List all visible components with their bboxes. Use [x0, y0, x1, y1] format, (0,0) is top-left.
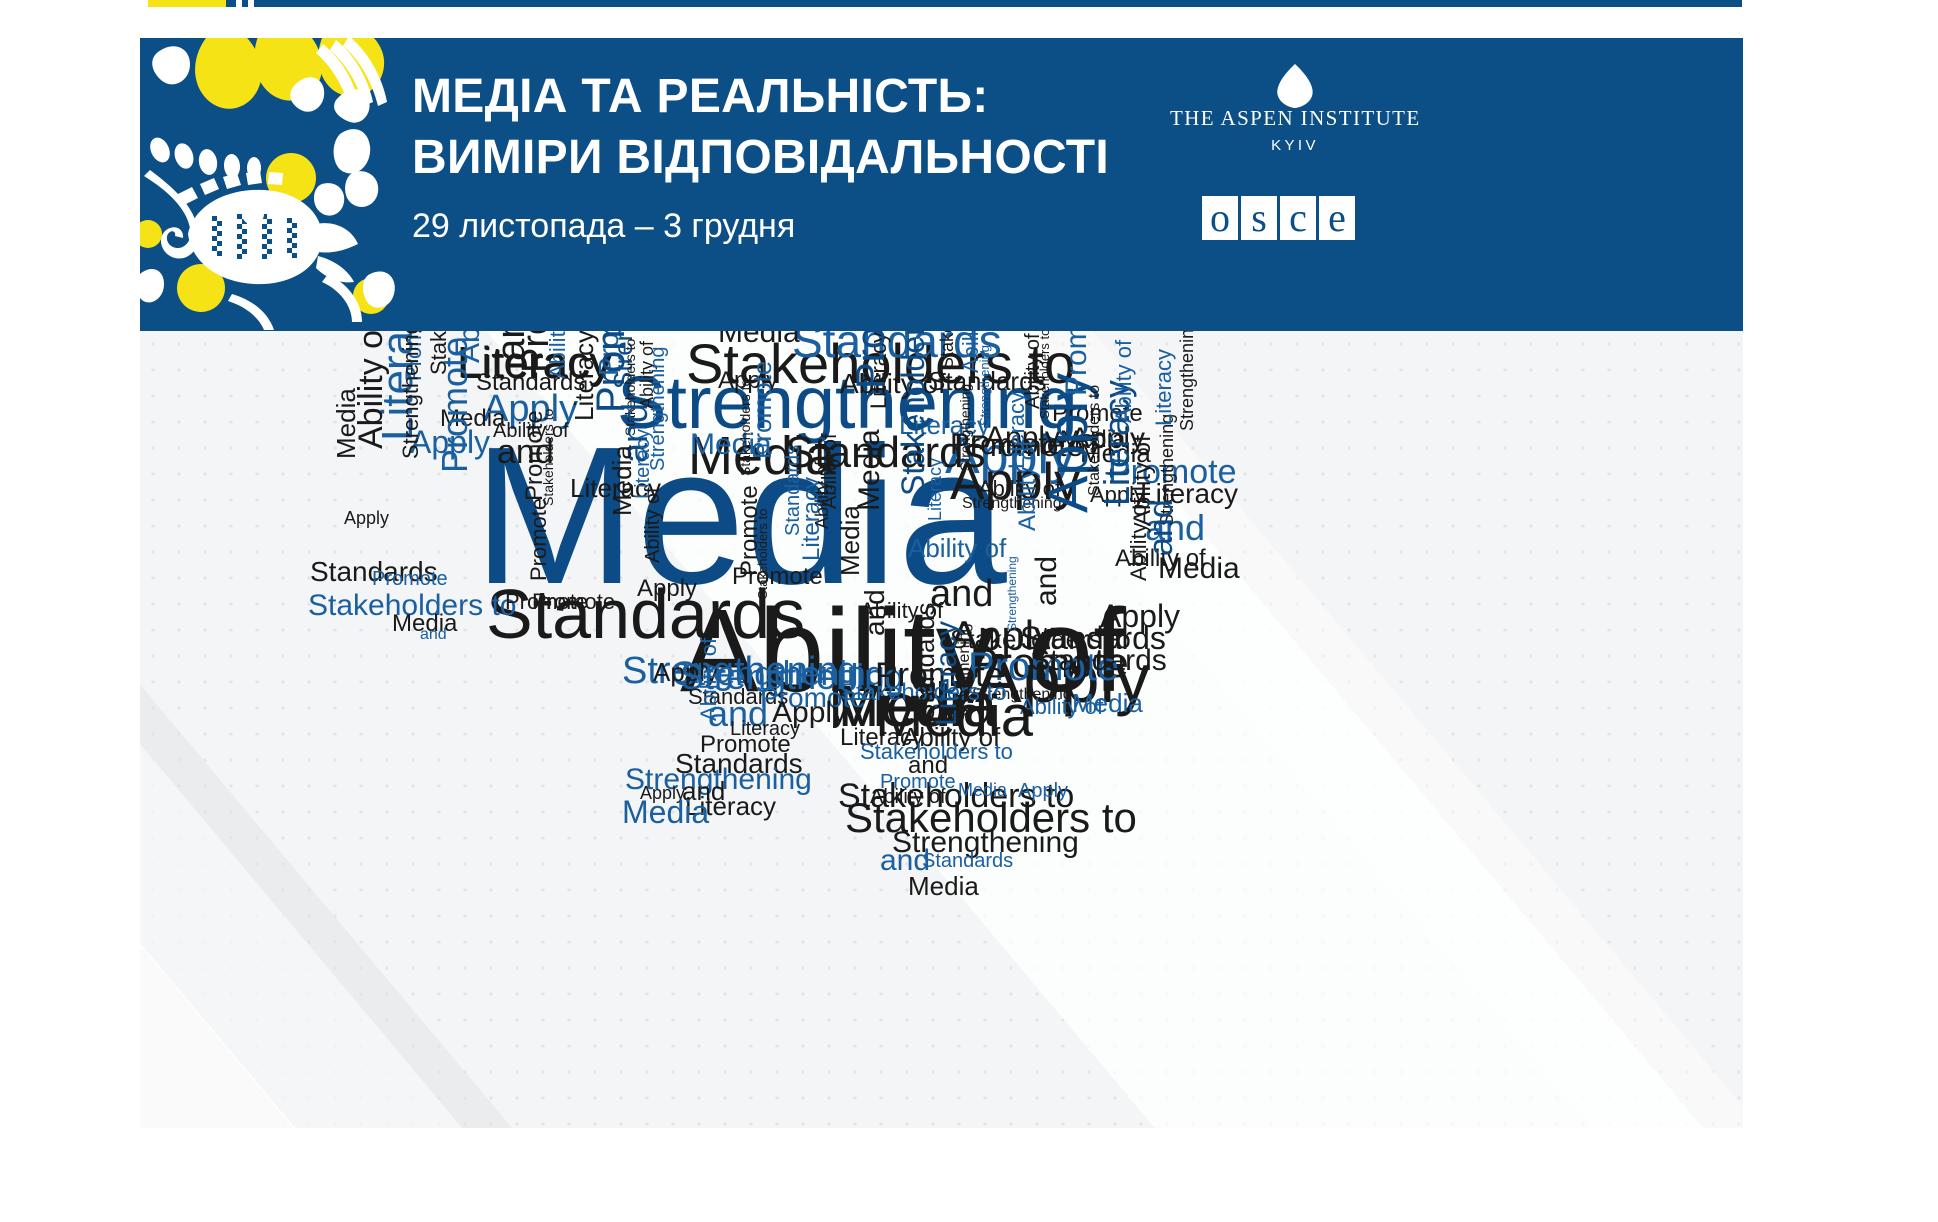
word-cloud-word: Strengthening	[402, 331, 420, 459]
word-cloud-word: Apply	[344, 511, 389, 526]
word-cloud: MediaAbility ofStrengtheningStandardsSta…	[140, 331, 1743, 1128]
ukrainian-folk-ornament-icon	[140, 38, 402, 331]
sliver-blue-bar	[226, 0, 1742, 7]
word-cloud-word: Media	[622, 799, 709, 825]
word-cloud-word: Media	[612, 445, 633, 516]
sliver-gap-2	[248, 0, 254, 7]
word-cloud-word: Promote	[855, 331, 888, 389]
word-cloud-word: Standards	[922, 853, 1013, 869]
word-cloud-word: Stakeholders to	[543, 409, 554, 506]
word-cloud-word: Ability of	[1130, 498, 1148, 581]
word-cloud-word: Ability of	[1115, 340, 1133, 423]
word-cloud-word: Ability of	[908, 538, 1006, 559]
osce-letter-c: c	[1280, 196, 1316, 240]
word-cloud-word: Stakeholders to	[940, 331, 955, 369]
word-cloud-word: Media	[336, 388, 357, 459]
aspen-institute-logo: THE ASPEN INSTITUTE KYIV	[1170, 62, 1420, 167]
osce-letter-e: e	[1319, 196, 1355, 240]
osce-letter-o: o	[1202, 196, 1238, 240]
word-cloud-word: and	[1035, 556, 1060, 606]
word-cloud-word: Promote	[505, 593, 588, 611]
sliver-yellow-bar	[148, 0, 226, 7]
word-cloud-word: Strengthening	[1180, 331, 1195, 431]
word-cloud-word: Ability of	[645, 487, 661, 563]
word-cloud-word: Stakeholders to	[900, 331, 926, 496]
word-cloud-word: Ability of	[815, 461, 830, 529]
aspen-leaf-icon	[1170, 62, 1420, 108]
page-title-line1: МЕДІА ТА РЕАЛЬНІСТЬ:	[412, 66, 1222, 127]
word-cloud-word: Media	[858, 429, 883, 511]
page-title: МЕДІА ТА РЕАЛЬНІСТЬ: ВИМІРИ ВІДПОВІДАЛЬН…	[412, 66, 1222, 189]
word-cloud-word: Stakeholders to	[1040, 331, 1051, 419]
word-cloud-word: Strengthening	[960, 384, 971, 471]
word-cloud-word: Media	[718, 331, 800, 346]
word-cloud-word: Strengthening	[958, 623, 971, 723]
word-cloud-word: Literacy	[928, 458, 943, 521]
slide-canvas: MediaAbility ofStrengtheningStandardsSta…	[140, 331, 1743, 1128]
osce-letter-s: s	[1241, 196, 1277, 240]
word-cloud-word: Standards	[1030, 649, 1167, 674]
word-cloud-word: Media	[1072, 693, 1143, 714]
word-cloud-word: Strengthening	[1008, 556, 1018, 631]
word-cloud-word: Promote	[595, 331, 628, 413]
word-cloud-word: Promote	[752, 361, 773, 459]
previous-slide-sliver	[0, 0, 1938, 7]
osce-logo: o s c e	[1202, 196, 1355, 240]
word-cloud-word: Promote	[372, 571, 448, 587]
word-cloud-word: Literacy	[1155, 349, 1173, 426]
event-dates: 29 листопада – 3 грудня	[412, 206, 1112, 247]
word-cloud-word: Promote	[1065, 331, 1090, 396]
word-cloud-word: Media	[1158, 557, 1240, 582]
word-cloud-word: and	[864, 589, 887, 636]
aspen-institute-city: KYIV	[1170, 137, 1420, 154]
word-cloud-word: Standards	[915, 602, 936, 721]
word-cloud-word: Ability of	[549, 331, 567, 379]
word-cloud-word: Apply	[637, 579, 697, 599]
sliver-gap-1	[236, 0, 242, 7]
word-cloud-word: Promote	[530, 498, 548, 581]
slide-banner: МЕДІА ТА РЕАЛЬНІСТЬ: ВИМІРИ ВІДПОВІДАЛЬН…	[140, 38, 1743, 331]
word-cloud-word: Ability of	[358, 331, 386, 449]
page-title-line2: ВИМІРИ ВІДПОВІДАЛЬНОСТІ	[412, 127, 1222, 188]
word-cloud-word: Media	[908, 876, 979, 897]
word-cloud-word: Strengthening	[980, 345, 991, 426]
word-cloud-word: and	[420, 628, 447, 641]
word-cloud-word: Standards	[785, 445, 801, 536]
word-cloud-word: Media	[840, 505, 861, 576]
aspen-institute-name: THE ASPEN INSTITUTE	[1170, 106, 1420, 131]
word-cloud-word: Stakeholders to	[758, 509, 769, 599]
word-cloud-word: and	[1148, 499, 1176, 556]
word-cloud-word: Ability of	[1018, 440, 1038, 531]
word-cloud-word: Ability of	[700, 638, 718, 721]
word-cloud-word: Promote	[440, 337, 470, 473]
